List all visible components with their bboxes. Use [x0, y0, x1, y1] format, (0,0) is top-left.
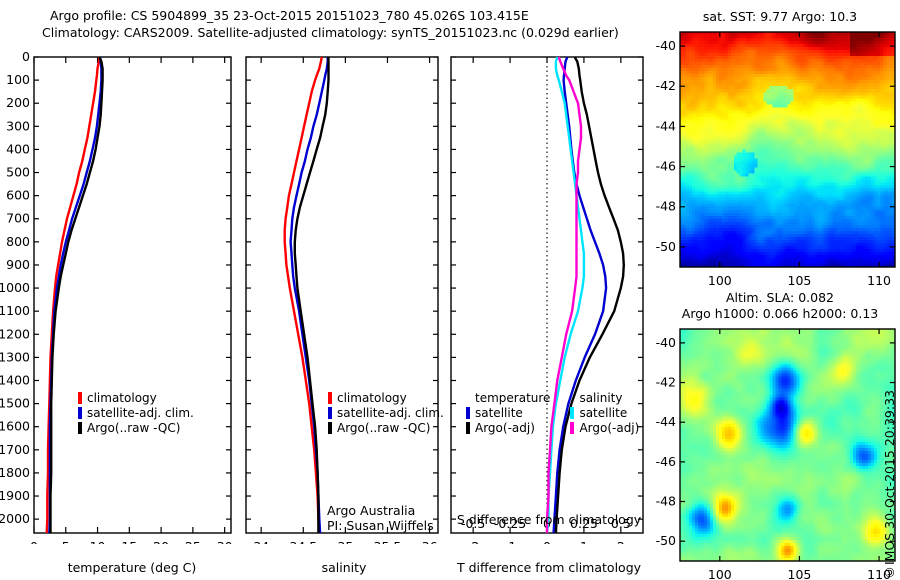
- difference-panel: -2-1012-0.5-0.2500.250.5: [450, 44, 650, 544]
- legend-swatch-temperature-satellite: [466, 407, 470, 419]
- legend-item: satellite: [570, 405, 639, 420]
- svg-text:35.5: 35.5: [374, 539, 402, 544]
- temperature-legend: climatology satellite-adj. clim. Argo(..…: [78, 390, 194, 435]
- legend-item: climatology: [78, 390, 194, 405]
- legend-swatch-argo: [328, 422, 332, 434]
- svg-text:20: 20: [153, 539, 169, 544]
- difference-legend-salinity: salinity satellite Argo(-adj): [570, 390, 639, 435]
- legend-swatch-temperature-argo: [466, 422, 470, 434]
- difference-s-axis-label: S difference from climatology: [450, 512, 648, 527]
- svg-text:1900: 1900: [0, 488, 30, 503]
- svg-text:200: 200: [6, 95, 30, 110]
- legend-swatch-climatology: [78, 392, 82, 404]
- svg-text:5: 5: [62, 539, 70, 544]
- svg-text:0: 0: [543, 539, 551, 544]
- legend-item: climatology: [328, 390, 444, 405]
- svg-text:34: 34: [253, 539, 269, 544]
- legend-item: satellite-adj. clim.: [78, 405, 194, 420]
- legend-item: satellite-adj. clim.: [328, 405, 444, 420]
- svg-text:15: 15: [121, 539, 137, 544]
- agency-label: Argo Australia: [327, 503, 415, 518]
- legend-label: Argo(..raw -QC): [87, 421, 180, 435]
- difference-legend: temperature satellite Argo(-adj) salinit…: [466, 390, 639, 435]
- legend-label: Argo(-adj): [579, 421, 639, 435]
- salinity-xaxis-label: salinity: [245, 560, 443, 575]
- legend-group-title: salinity: [579, 391, 622, 405]
- svg-text:2000: 2000: [0, 511, 30, 526]
- svg-text:-2: -2: [467, 539, 479, 544]
- sla-map-title-line2: Argo h1000: 0.066 h2000: 0.13: [660, 306, 900, 321]
- svg-text:300: 300: [6, 118, 30, 133]
- svg-text:25: 25: [185, 539, 201, 544]
- legend-item: Argo(-adj): [466, 420, 550, 435]
- sst-map-canvas: 100105110-40-42-44-46-48-50: [655, 28, 900, 286]
- temperature-xaxis-label: temperature (deg C): [33, 560, 231, 575]
- difference-plot: -2-1012-0.5-0.2500.250.5: [450, 44, 650, 544]
- temperature-plot: 0100200300400500600700800900100011001200…: [0, 44, 245, 544]
- svg-text:2: 2: [617, 539, 625, 544]
- svg-text:600: 600: [6, 188, 30, 203]
- svg-text:-1: -1: [504, 539, 516, 544]
- svg-text:800: 800: [6, 234, 30, 249]
- svg-text:1200: 1200: [0, 326, 30, 341]
- difference-t-axis-label: T difference from climatology: [450, 560, 648, 575]
- page-title-line2: Climatology: CARS2009. Satellite-adjuste…: [42, 25, 619, 41]
- legend-group-title: temperature: [475, 391, 550, 405]
- svg-text:34.5: 34.5: [289, 539, 317, 544]
- salinity-panel: 3434.53535.536: [245, 44, 445, 544]
- svg-text:1: 1: [580, 539, 588, 544]
- legend-label: satellite: [475, 406, 523, 420]
- legend-swatch-satellite-adj: [328, 407, 332, 419]
- legend-group-title-row: salinity: [570, 390, 639, 405]
- legend-label: Argo(..raw -QC): [337, 421, 430, 435]
- legend-swatch-satellite-adj: [78, 407, 82, 419]
- legend-label: satellite-adj. clim.: [337, 406, 444, 420]
- legend-label: climatology: [87, 391, 157, 405]
- legend-swatch-salinity-argo: [570, 422, 574, 434]
- difference-legend-temperature: temperature satellite Argo(-adj): [466, 390, 550, 435]
- legend-label: Argo(-adj): [475, 421, 535, 435]
- svg-text:1800: 1800: [0, 465, 30, 480]
- svg-text:1600: 1600: [0, 419, 30, 434]
- svg-text:30: 30: [217, 539, 233, 544]
- svg-text:0: 0: [22, 49, 30, 64]
- svg-text:500: 500: [6, 165, 30, 180]
- svg-text:700: 700: [6, 211, 30, 226]
- salinity-legend: climatology satellite-adj. clim. Argo(..…: [328, 390, 444, 435]
- svg-text:1100: 1100: [0, 303, 30, 318]
- svg-text:1700: 1700: [0, 442, 30, 457]
- sla-map: 100105110-40-42-44-46-48-50: [655, 325, 900, 580]
- page-title-line1: Argo profile: CS 5904899_35 23-Oct-2015 …: [50, 8, 529, 24]
- svg-text:1400: 1400: [0, 372, 30, 387]
- legend-swatch-salinity-satellite: [570, 407, 574, 419]
- legend-label: satellite-adj. clim.: [87, 406, 194, 420]
- legend-item: Argo(-adj): [570, 420, 639, 435]
- legend-label: climatology: [337, 391, 407, 405]
- legend-item: Argo(..raw -QC): [328, 420, 444, 435]
- svg-text:1500: 1500: [0, 396, 30, 411]
- svg-text:10: 10: [90, 539, 106, 544]
- sla-map-title-line1: Altim. SLA: 0.082: [665, 290, 895, 305]
- salinity-plot: 3434.53535.536: [245, 44, 445, 544]
- svg-text:400: 400: [6, 141, 30, 156]
- legend-group-title-row: temperature: [466, 390, 550, 405]
- legend-swatch-climatology: [328, 392, 332, 404]
- legend-label: satellite: [579, 406, 627, 420]
- svg-text:900: 900: [6, 257, 30, 272]
- copyright-label: ©IMOS 30-Oct-2015 20:39:33: [882, 390, 897, 580]
- svg-text:100: 100: [6, 72, 30, 87]
- legend-item: satellite: [466, 405, 550, 420]
- legend-item: Argo(..raw -QC): [78, 420, 194, 435]
- svg-text:1000: 1000: [0, 280, 30, 295]
- temperature-panel: 0100200300400500600700800900100011001200…: [0, 44, 245, 544]
- sla-map-canvas: 100105110-40-42-44-46-48-50: [655, 325, 900, 580]
- sst-map: 100105110-40-42-44-46-48-50: [655, 28, 900, 286]
- svg-text:36: 36: [422, 539, 438, 544]
- sst-map-title: sat. SST: 9.77 Argo: 10.3: [665, 9, 895, 24]
- svg-text:1300: 1300: [0, 349, 30, 364]
- svg-text:35: 35: [337, 539, 353, 544]
- svg-text:0: 0: [30, 539, 38, 544]
- pi-label: PI: Susan Wijffels: [327, 518, 434, 533]
- legend-swatch-argo: [78, 422, 82, 434]
